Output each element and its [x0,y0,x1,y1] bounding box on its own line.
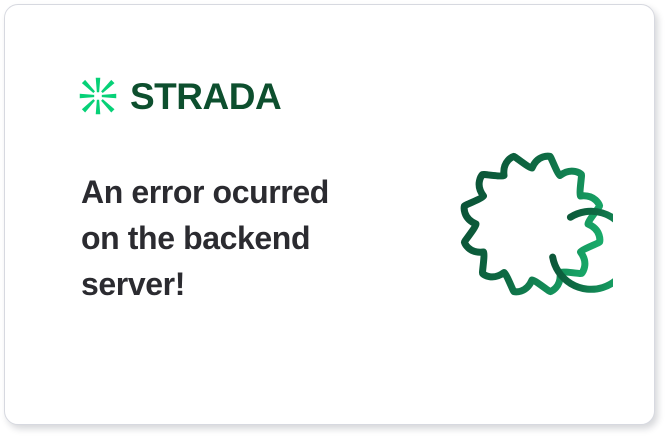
gear-cog-icon [451,143,613,305]
error-message-line-3: server! [81,261,381,307]
error-card: STRADA An error ocurred on the backend s… [4,4,655,425]
error-message-line-2: on the backend [81,215,381,261]
gear-illustration [451,143,613,305]
strada-asterisk-icon [79,77,117,115]
brand-lockup: STRADA [79,73,281,119]
error-message-line-1: An error ocurred [81,169,381,215]
error-page-root: STRADA An error ocurred on the backend s… [0,0,666,436]
error-message: An error ocurred on the backend server! [81,169,381,307]
gear-outer-ring [464,156,600,292]
brand-wordmark: STRADA [130,78,281,115]
